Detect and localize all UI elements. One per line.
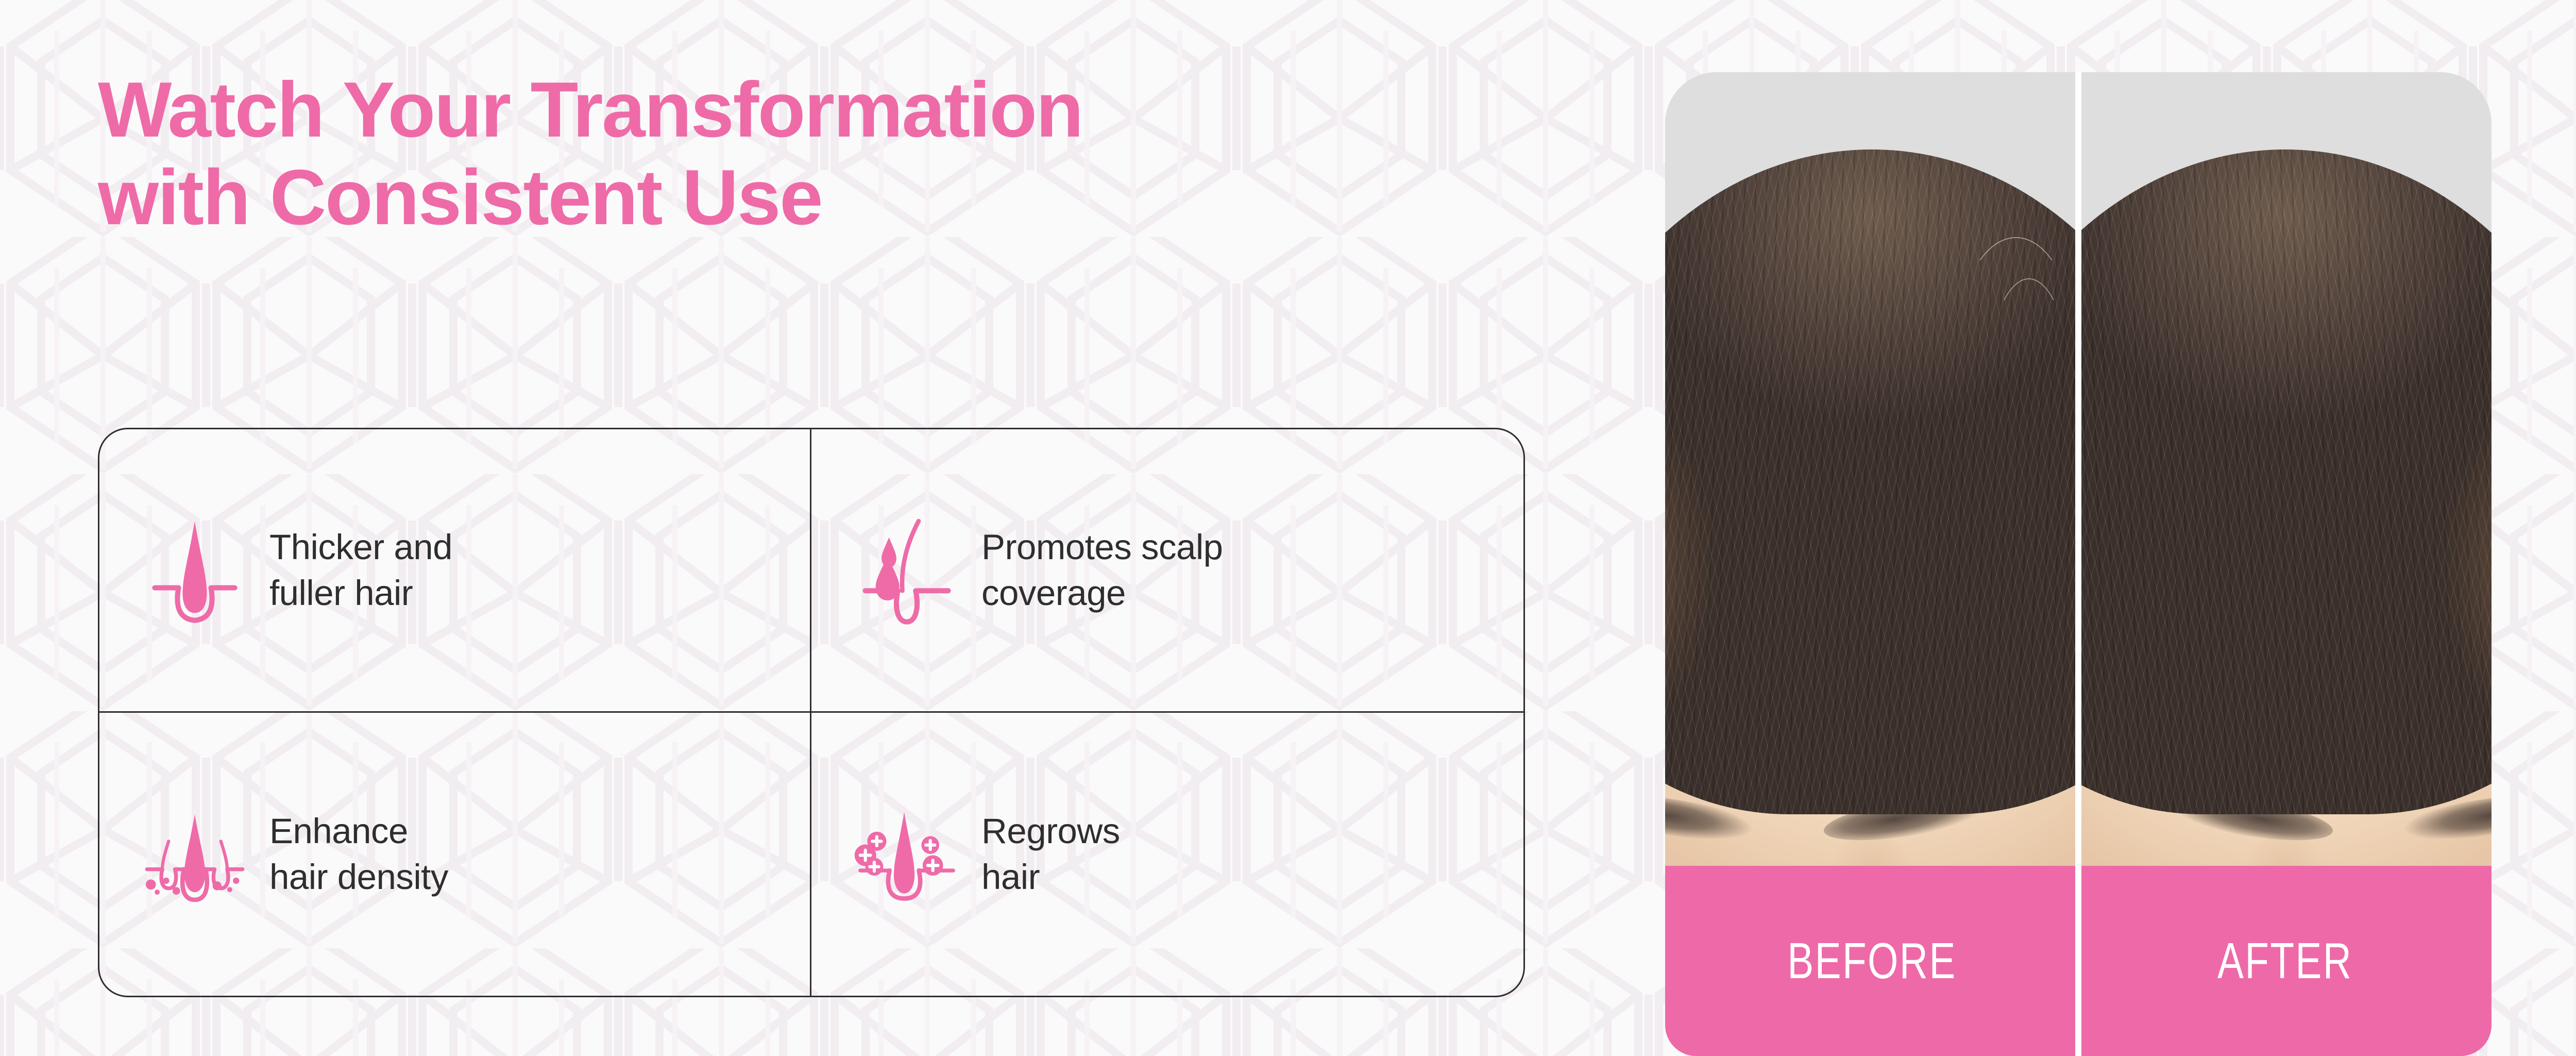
before-after-photo-panel: BEFORE AFTER <box>1665 72 2492 1056</box>
left-content-column: Watch Your Transformation with Consisten… <box>0 0 1597 1056</box>
before-after-photo <box>1665 72 2492 866</box>
feature-label-line-1: Enhance <box>269 811 408 851</box>
feature-item-promotes-scalp-coverage[interactable]: Promotes scalp coverage <box>811 429 1523 713</box>
head-after <box>2078 149 2492 866</box>
before-after-divider <box>2075 72 2081 866</box>
feature-grid: Thicker and fuller hair <box>99 429 1523 996</box>
feature-label-line-2: fuller hair <box>269 573 413 613</box>
feature-label-line-1: Regrows <box>981 811 1120 851</box>
feature-item-thicker-fuller-hair[interactable]: Thicker and fuller hair <box>99 429 811 713</box>
feature-label-enhance-hair-density: Enhance hair density <box>269 808 448 900</box>
follicle-droplets-icon <box>853 511 961 629</box>
follicle-density-dots-icon <box>141 795 249 913</box>
page-title-line-1: Watch Your Transformation <box>98 66 1540 154</box>
follicle-plus-regrowth-icon <box>853 795 961 913</box>
hair-wisp <box>1982 278 2075 546</box>
feature-label-promotes-scalp-coverage: Promotes scalp coverage <box>981 524 1223 616</box>
feature-label-regrows-hair: Regrows hair <box>981 808 1120 900</box>
page-title-line-2: with Consistent Use <box>98 154 1540 241</box>
feature-benefits-card: Thicker and fuller hair <box>98 428 1525 997</box>
feature-label-line-1: Promotes scalp <box>981 527 1223 567</box>
after-label: AFTER <box>2217 932 2352 990</box>
feature-label-line-1: Thicker and <box>269 527 452 567</box>
caption-after: AFTER <box>2078 866 2492 1056</box>
feature-label-line-2: hair density <box>269 857 448 897</box>
caption-before: BEFORE <box>1665 866 2078 1056</box>
feature-label-line-2: hair <box>981 857 1040 897</box>
caption-divider <box>2075 866 2081 1056</box>
before-after-caption-bar: BEFORE AFTER <box>1665 866 2492 1056</box>
before-label: BEFORE <box>1787 932 1956 990</box>
hair-follicle-icon <box>141 511 249 629</box>
feature-label-line-2: coverage <box>981 573 1126 613</box>
hair-mass-after <box>2078 149 2492 814</box>
feature-label-thicker-fuller-hair: Thicker and fuller hair <box>269 524 452 616</box>
head-before <box>1665 149 2078 866</box>
photo-half-before <box>1665 72 2078 866</box>
photo-half-after <box>2078 72 2492 866</box>
feature-item-regrows-hair[interactable]: Regrows hair <box>811 713 1523 996</box>
feature-item-enhance-hair-density[interactable]: Enhance hair density <box>99 713 811 996</box>
page-title: Watch Your Transformation with Consisten… <box>98 66 1540 241</box>
